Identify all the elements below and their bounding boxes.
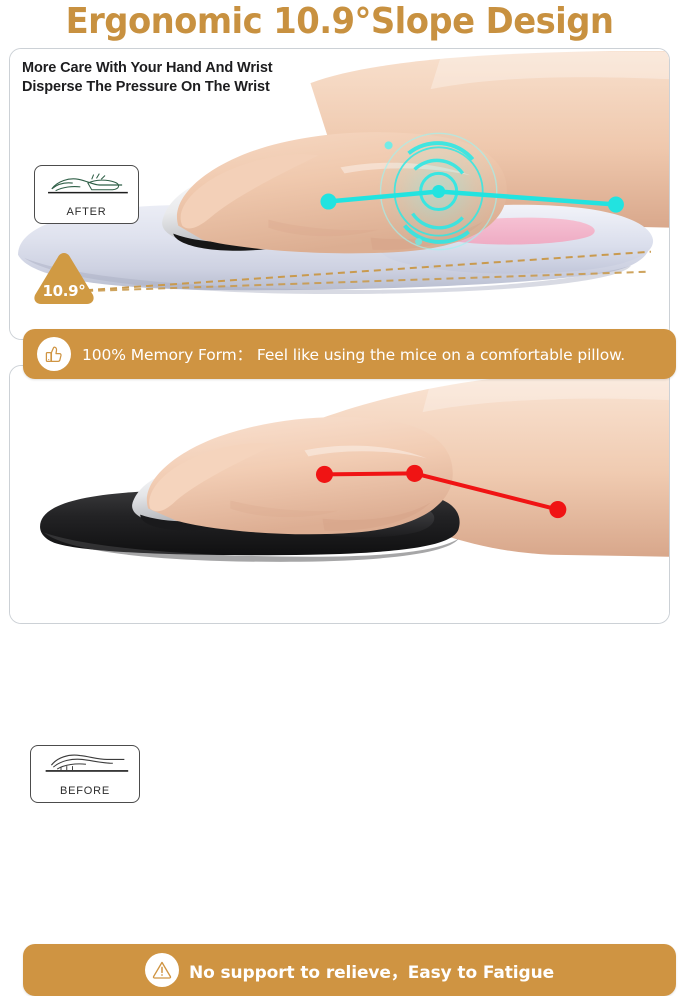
- state-badge-after-label: AFTER: [35, 200, 138, 223]
- flat-hand-icon: [31, 746, 139, 780]
- banner-no-support: No support to relieve，Easy to Fatigue: [23, 944, 676, 996]
- banner-no-support-text: No support to relieve，Easy to Fatigue: [189, 958, 554, 983]
- scene-before: [10, 366, 669, 623]
- panel-before-photo: [10, 366, 669, 623]
- state-badge-before: BEFORE: [30, 745, 140, 803]
- thumbs-up-icon: [37, 337, 71, 371]
- headline-line-1: More Care With Your Hand And Wrist: [22, 59, 273, 78]
- banner-memory-foam-text: 100% Memory Form： Feel like using the mi…: [82, 343, 625, 365]
- headline-line-2: Disperse The Pressure On The Wrist: [22, 78, 273, 97]
- slope-badge: 10.9°: [31, 249, 97, 307]
- panel-before: BEFORE No support to relieve，Easy to Fat…: [9, 365, 670, 624]
- slope-badge-value: 10.9°: [31, 282, 97, 300]
- banner-memory-foam: 100% Memory Form： Feel like using the mi…: [23, 329, 676, 379]
- hand-on-wrist-rest-icon: [35, 166, 138, 200]
- warning-triangle-icon: [145, 953, 179, 987]
- panel-after: More Care With Your Hand And Wrist Dispe…: [9, 48, 670, 340]
- state-badge-after: AFTER: [34, 165, 139, 224]
- panel-after-headline: More Care With Your Hand And Wrist Dispe…: [22, 59, 273, 97]
- state-badge-before-label: BEFORE: [31, 780, 139, 802]
- page-title: Ergonomic 10.9°Slope Design: [20, 0, 658, 44]
